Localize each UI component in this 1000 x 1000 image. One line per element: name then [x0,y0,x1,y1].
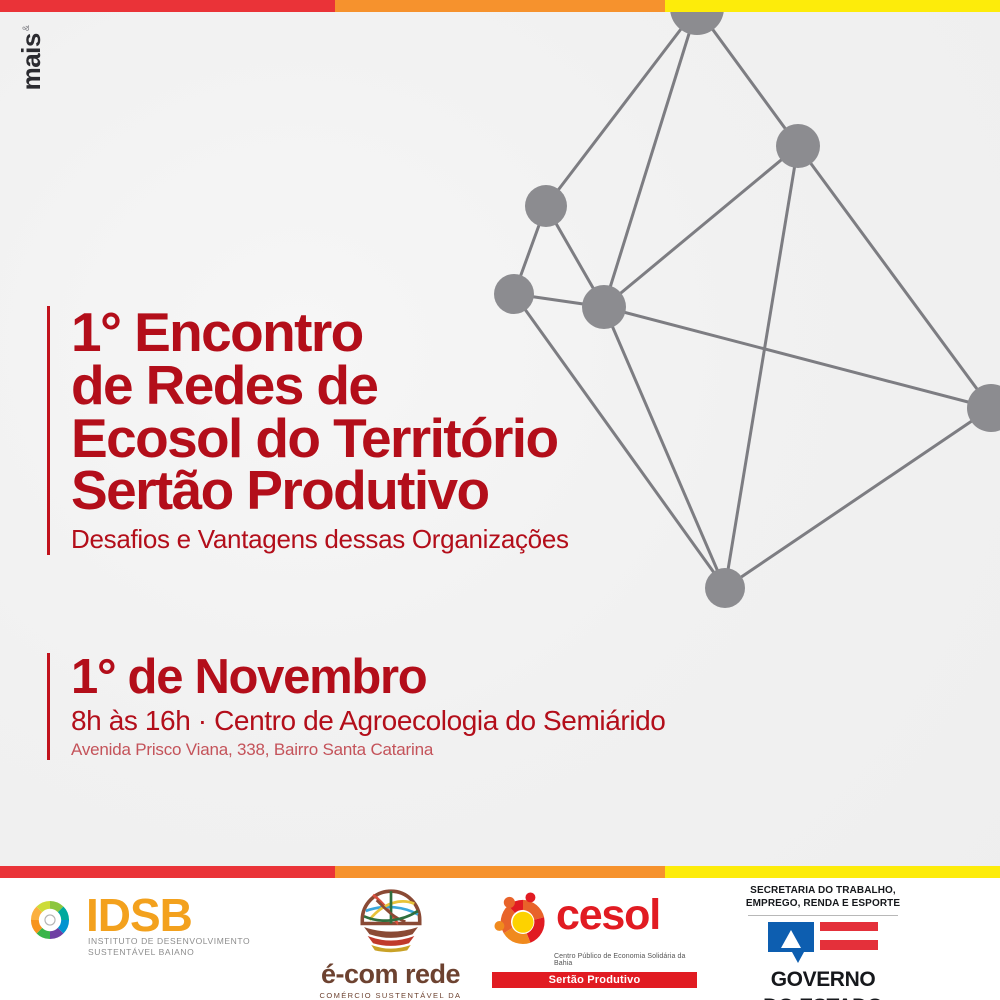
network-edge [546,8,697,206]
event-address: Avenida Prisco Viana, 338, Bairro Santa … [71,740,665,760]
network-edge [604,8,697,307]
governo-name-line-2: DO ESTADO [723,996,923,1000]
mais-logo-word: mais [18,33,44,90]
idsb-wordmark: IDSB [86,895,250,936]
network-edge [604,307,991,408]
event-details-block: 1° de Novembro 8h às 16h · Centro de Agr… [47,653,665,760]
color-bar-red-segment [0,0,335,12]
network-node [776,124,820,168]
divider [748,915,898,916]
cesol-territory-banner: Sertão Produtivo [492,972,697,988]
logo-cesol: cesol Centro Público de Economia Solidár… [480,878,705,1000]
event-date: 1° de Novembro [71,653,665,703]
event-time-and-venue: 8h às 16h · Centro de Agroecologia do Se… [71,705,665,737]
title-line-2: de Redes de [71,359,569,412]
network-nodes [494,0,1000,608]
bahia-flag-icon [768,922,878,964]
title-line-4: Sertão Produtivo [71,464,569,517]
network-edge [725,146,798,588]
ecom-tagline: COMÉRCIO SUSTENTÁVEL DA BAHIA [308,991,473,1000]
footer-bar-yellow-segment [665,866,1000,878]
ecom-wordmark: é-com rede [308,961,473,988]
network-edge [798,146,991,408]
color-bar-yellow-segment [665,0,1000,12]
secretaria-line-2: EMPREGO, RENDA E ESPORTE [723,897,923,910]
footer-bar-orange-segment [335,866,665,878]
title-line-1: 1° Encontro [71,306,569,359]
idsb-tagline-line-1: INSTITUTO DE DESENVOLVIMENTO [88,936,250,947]
cesol-people-swirl-icon [492,890,554,952]
cesol-tagline: Centro Público de Economia Solidária da … [554,953,697,967]
network-node [582,285,626,329]
network-node [705,568,745,608]
governo-name-line-1: GOVERNO [723,969,923,991]
title-block: 1° Encontro de Redes de Ecosol do Territ… [47,306,569,555]
idsb-tagline-line-2: SUSTENTÁVEL BAIANO [88,947,250,958]
idsb-swirl-icon [22,892,78,948]
network-node [525,185,567,227]
top-color-bar [0,0,1000,12]
network-edge [604,307,725,588]
footer-bar-red-segment [0,866,335,878]
event-poster: mais & 1° Encontro de Redes de Ecosol do… [0,0,1000,1000]
bottom-color-bar [0,866,1000,878]
network-edge [725,408,991,588]
cesol-wordmark: cesol [556,896,660,935]
network-node [967,384,1000,432]
mais-logo: mais & [8,18,54,98]
title-subtitle: Desafios e Vantagens dessas Organizações [71,524,569,555]
sponsor-logo-bar: IDSB INSTITUTO DE DESENVOLVIMENTO SUSTEN… [0,878,1000,1000]
color-bar-orange-segment [335,0,665,12]
ecom-basket-globe-icon [345,884,437,954]
network-edge [604,146,798,307]
title-line-3: Ecosol do Território [71,412,569,465]
logo-governo-do-estado: SECRETARIA DO TRABALHO, EMPREGO, RENDA E… [705,878,1000,1000]
logo-idsb: IDSB INSTITUTO DE DESENVOLVIMENTO SUSTEN… [0,878,300,1000]
logo-ecom-rede: é-com rede COMÉRCIO SUSTENTÁVEL DA BAHIA [300,878,480,1000]
mais-logo-mark-icon: & [22,26,31,32]
secretaria-line-1: SECRETARIA DO TRABALHO, [723,884,923,897]
